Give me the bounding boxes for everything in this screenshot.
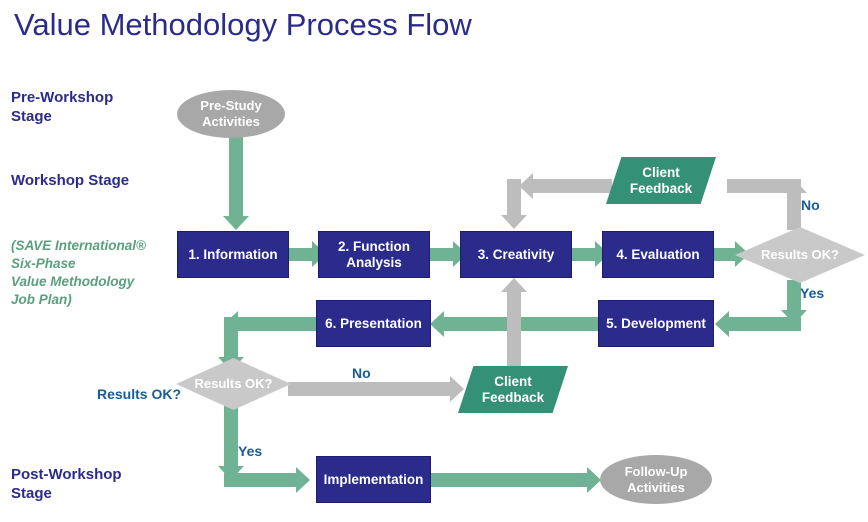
edge-yes-bottom-horizontal-shaft xyxy=(224,473,299,487)
node-step4-evaluation[interactable]: 4. Evaluation xyxy=(602,231,714,278)
edge-implementation-to-followup-shaft xyxy=(430,473,590,487)
node-label: Results OK? xyxy=(194,376,272,392)
edge-yes-right-horizontal-shaft xyxy=(728,317,801,331)
node-step1-information[interactable]: 1. Information xyxy=(177,231,289,278)
edge-prestudy-to-information-shaft xyxy=(229,128,243,218)
edge-implementation-to-followup-arrowhead xyxy=(587,467,601,493)
node-label: 5. Development xyxy=(606,316,706,332)
edge-yes-bottom-vertical-shaft xyxy=(224,404,238,472)
node-decision-results-ok-bottom[interactable]: Results OK? xyxy=(176,358,291,410)
edge-step6-to-decision-vertical-shaft xyxy=(224,317,238,361)
node-implementation[interactable]: Implementation xyxy=(316,456,431,503)
edge-step5-to-step6-arrowhead xyxy=(430,311,444,337)
edge-label-yes-bottom: Yes xyxy=(238,443,262,459)
edge-feedback-bottom-up-shaft xyxy=(507,290,521,367)
edge-feedback-top-horizontal-shaft xyxy=(532,179,612,193)
node-step2-function-analysis[interactable]: 2. Function Analysis xyxy=(318,231,430,278)
edge-step6-to-decision-horizontal-shaft xyxy=(237,317,316,331)
page-title: Value Methodology Process Flow xyxy=(14,6,472,44)
edge-feedback-top-horizontal-arrowhead xyxy=(519,173,533,199)
node-label: Client Feedback xyxy=(482,374,544,406)
edge-label-results-ok-left: Results OK? xyxy=(97,386,181,402)
node-step3-creativity[interactable]: 3. Creativity xyxy=(460,231,572,278)
edge-no-right-horizontal-shaft xyxy=(727,179,801,193)
edge-label-yes-right: Yes xyxy=(800,285,824,301)
node-label: Results OK? xyxy=(761,247,839,263)
edge-no-bottom-arrowhead xyxy=(450,376,464,402)
node-step5-development[interactable]: 5. Development xyxy=(598,300,714,347)
node-label: 1. Information xyxy=(188,247,277,263)
edge-feedback-bottom-up-arrowhead xyxy=(501,278,527,292)
node-label: Follow-Up Activities xyxy=(625,464,688,496)
node-client-feedback-top[interactable]: Client Feedback xyxy=(606,157,716,204)
stage-label-pre-workshop: Pre-Workshop Stage xyxy=(11,88,113,126)
edge-yes-bottom-horizontal-arrowhead xyxy=(296,467,310,493)
stage-label-post-workshop: Post-Workshop Stage xyxy=(11,465,122,503)
node-label: 4. Evaluation xyxy=(616,247,699,263)
node-pre-study-activities[interactable]: Pre-Study Activities xyxy=(177,90,285,138)
node-label: 2. Function Analysis xyxy=(338,239,410,271)
flowchart-canvas: Value Methodology Process Flow Pre-Works… xyxy=(0,0,868,522)
stage-label-workshop: Workshop Stage xyxy=(11,171,129,190)
node-label: Client Feedback xyxy=(630,165,692,197)
node-step6-presentation[interactable]: 6. Presentation xyxy=(316,300,431,347)
edge-feedback-top-down-shaft xyxy=(507,179,521,217)
node-label: Pre-Study Activities xyxy=(200,98,261,130)
edge-prestudy-to-information-arrowhead xyxy=(223,216,249,230)
edge-no-bottom-shaft xyxy=(288,382,454,396)
edge-label-no-bottom: No xyxy=(352,365,371,381)
node-follow-up-activities[interactable]: Follow-Up Activities xyxy=(600,455,712,504)
edge-label-no-right: No xyxy=(801,197,820,213)
edge-feedback-top-down-arrowhead xyxy=(501,215,527,229)
node-label: 6. Presentation xyxy=(325,316,422,332)
node-label: 3. Creativity xyxy=(478,247,555,263)
edge-yes-right-horizontal-arrowhead xyxy=(715,311,729,337)
node-decision-results-ok-right[interactable]: Results OK? xyxy=(735,227,865,283)
node-label: Implementation xyxy=(324,472,424,488)
node-client-feedback-bottom[interactable]: Client Feedback xyxy=(458,366,568,413)
edge-no-right-vertical-shaft xyxy=(787,192,801,230)
save-international-annotation: (SAVE International® Six-Phase Value Met… xyxy=(11,237,146,309)
